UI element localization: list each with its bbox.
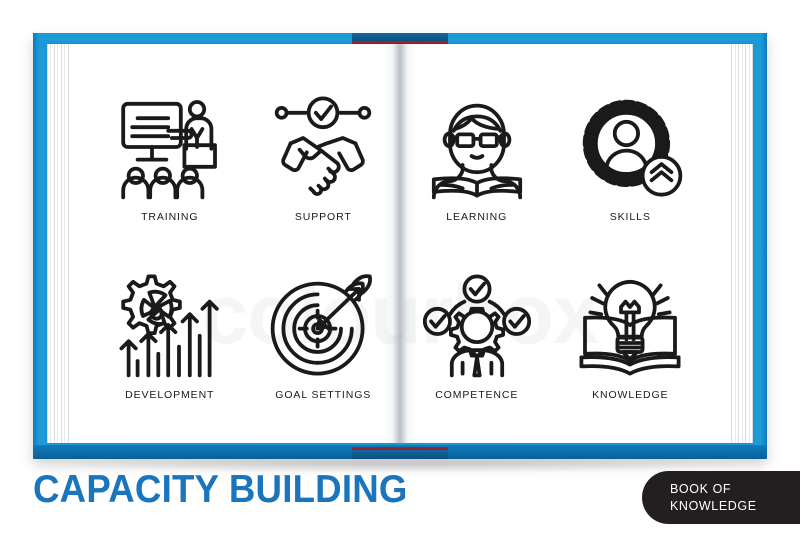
- cover-right-edge: [761, 33, 767, 459]
- gear-growth-arrows-icon: [116, 270, 224, 380]
- icon-label: SUPPORT: [295, 211, 352, 223]
- page-title: CAPACITY BUILDING: [33, 470, 408, 509]
- book-spine-bottom: [352, 445, 448, 459]
- icon-cell-development[interactable]: DEVELOPMENT: [93, 247, 247, 426]
- target-arrow-bullseye-icon: [269, 270, 377, 380]
- open-book-graphic: colourbox: [33, 33, 767, 459]
- icon-cell-training[interactable]: TRAINING: [93, 68, 247, 247]
- handshake-checkmark-icon: [269, 92, 377, 202]
- page-edges-right: [731, 44, 753, 443]
- person-gear-upgrade-icon: [576, 92, 684, 202]
- icon-cell-learning[interactable]: LEARNING: [400, 68, 554, 247]
- presentation-board-audience-icon: [116, 92, 224, 202]
- lightbulb-open-book-icon: [576, 270, 684, 380]
- icon-label: SKILLS: [610, 211, 651, 223]
- icon-label: TRAINING: [141, 211, 198, 223]
- icon-label: GOAL SETTINGS: [275, 389, 371, 401]
- cover-left-edge: [33, 33, 39, 459]
- icon-label: COMPETENCE: [435, 389, 518, 401]
- person-gear-head-checkmarks-icon: [423, 270, 531, 380]
- page-edges-left: [47, 44, 69, 443]
- book-pages: colourbox: [47, 44, 753, 443]
- icon-grid: TRAINING: [93, 68, 707, 425]
- person-glasses-open-book-icon: [423, 92, 531, 202]
- spine-navy-stripe: [352, 450, 448, 459]
- icon-cell-support[interactable]: SUPPORT: [247, 68, 401, 247]
- icon-label: LEARNING: [446, 211, 507, 223]
- icon-cell-knowledge[interactable]: KNOWLEDGE: [554, 247, 708, 426]
- icon-cell-goal-settings[interactable]: GOAL SETTINGS: [247, 247, 401, 426]
- icon-cell-skills[interactable]: SKILLS: [554, 68, 708, 247]
- icon-cell-competence[interactable]: COMPETENCE: [400, 247, 554, 426]
- icon-label: DEVELOPMENT: [125, 389, 214, 401]
- icon-label: KNOWLEDGE: [592, 389, 668, 401]
- badge-line-1: BOOK OF: [670, 481, 784, 498]
- badge-line-2: KNOWLEDGE: [670, 498, 784, 515]
- book-of-knowledge-badge: BOOK OF KNOWLEDGE: [642, 471, 800, 524]
